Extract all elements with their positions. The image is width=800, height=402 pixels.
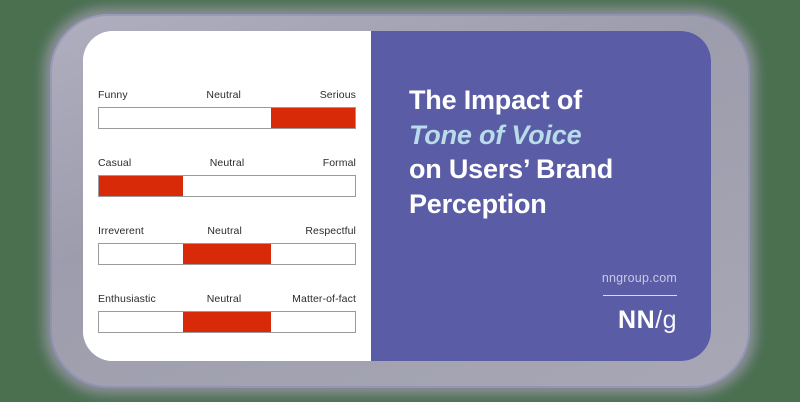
slider-label-right: Formal xyxy=(323,157,356,169)
content-card: Funny Neutral Serious Casual Neutral For… xyxy=(83,31,711,361)
slider-fill xyxy=(183,244,270,264)
slider-track[interactable] xyxy=(98,311,356,333)
slider-fill xyxy=(183,312,270,332)
title-line-4: Perception xyxy=(409,187,677,222)
slider-fill xyxy=(271,108,355,128)
brand-block: nngroup.com NN/g xyxy=(409,271,677,333)
slider-labels: Enthusiastic Neutral Matter-of-fact xyxy=(98,293,356,305)
nng-logo: NN/g xyxy=(409,308,677,333)
title-line-accent: Tone of Voice xyxy=(409,118,677,153)
logo-slash-text: / xyxy=(655,306,662,334)
slider-label-mid: Neutral xyxy=(206,89,241,101)
tone-sliders-panel: Funny Neutral Serious Casual Neutral For… xyxy=(83,31,371,361)
slider-label-left: Enthusiastic xyxy=(98,293,156,305)
logo-g-text: g xyxy=(663,306,677,334)
slider-label-mid: Neutral xyxy=(207,225,242,237)
slider-label-left: Funny xyxy=(98,89,128,101)
slider-group-irreverent-respectful: Irreverent Neutral Respectful xyxy=(98,225,356,265)
slider-fill xyxy=(99,176,183,196)
slider-labels: Funny Neutral Serious xyxy=(98,89,356,101)
slider-label-right: Matter-of-fact xyxy=(292,293,356,305)
slider-group-funny-serious: Funny Neutral Serious xyxy=(98,89,356,129)
divider-line xyxy=(603,295,677,296)
slider-label-mid: Neutral xyxy=(210,157,245,169)
logo-nn-text: NN xyxy=(618,306,655,334)
slider-label-left: Casual xyxy=(98,157,131,169)
title-line-1: The Impact of xyxy=(409,83,677,118)
slider-labels: Casual Neutral Formal xyxy=(98,157,356,169)
slider-label-right: Respectful xyxy=(305,225,356,237)
slider-group-enthusiastic-matteroffact: Enthusiastic Neutral Matter-of-fact xyxy=(98,293,356,333)
page-title: The Impact of Tone of Voice on Users’ Br… xyxy=(409,83,677,221)
slider-label-right: Serious xyxy=(320,89,356,101)
slider-label-mid: Neutral xyxy=(207,293,242,305)
slider-label-left: Irreverent xyxy=(98,225,144,237)
slider-group-casual-formal: Casual Neutral Formal xyxy=(98,157,356,197)
slider-track[interactable] xyxy=(98,175,356,197)
title-line-3: on Users’ Brand xyxy=(409,152,677,187)
slider-track[interactable] xyxy=(98,243,356,265)
site-url[interactable]: nngroup.com xyxy=(409,271,677,285)
slider-labels: Irreverent Neutral Respectful xyxy=(98,225,356,237)
slider-track[interactable] xyxy=(98,107,356,129)
title-panel: The Impact of Tone of Voice on Users’ Br… xyxy=(371,31,711,361)
